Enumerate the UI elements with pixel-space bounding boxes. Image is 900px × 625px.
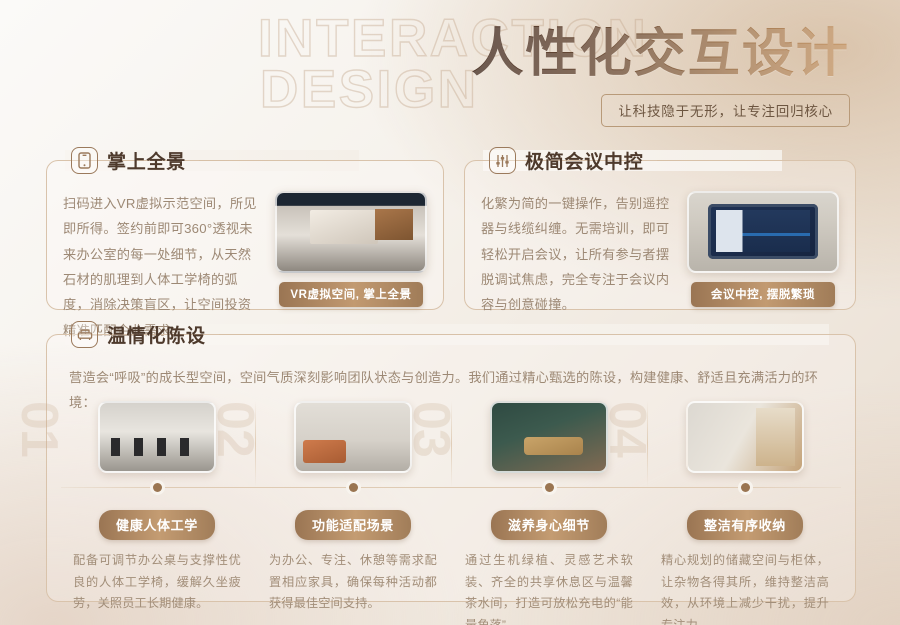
smartphone-icon — [71, 147, 98, 174]
green-art-meeting-room-photo — [490, 401, 608, 473]
card-3-header: 温情化陈设 — [65, 321, 829, 348]
sliders-icon — [489, 147, 516, 174]
poster-stage: INTERACTION DESIGN 人性化交互设计 让科技隐于无形，让专注回归… — [0, 0, 900, 625]
card-1-caption: VR虚拟空间, 掌上全景 — [279, 282, 423, 307]
column-3-number: 03 — [405, 401, 457, 457]
column-4-pill: 整洁有序收纳 — [687, 510, 803, 540]
card-1-body: 扫码进入VR虚拟示范空间，所见即所得。签约前即可360°透视未来办公室的每一处细… — [63, 191, 261, 293]
card-3-header-rule — [219, 334, 819, 335]
furnishing-columns: 01 健康人体工学 配备可调节办公桌与支撑性优良的人体工学椅，缓解久坐疲劳，关照… — [59, 397, 843, 587]
hero-tagline-badge: 让科技隐于无形，让专注回归核心 — [601, 94, 850, 127]
column-2-text: 为办公、专注、休憩等需求配置相应家具，确保每种活动都获得最佳空间支持。 — [269, 550, 437, 615]
card-1-title: 掌上全景 — [107, 147, 186, 174]
open-office-workstations-photo — [98, 401, 216, 473]
column-1-text: 配备可调节办公桌与支撑性优良的人体工学椅，缓解久坐疲劳，关照员工长期健康。 — [73, 550, 241, 615]
column-2-number: 02 — [209, 401, 261, 457]
column-4-text: 精心规划的储藏空间与柜体，让杂物各得其所，维持整洁高效，从环境上减少干扰，提升专… — [661, 550, 829, 625]
lounge-sofa-meeting-photo — [294, 401, 412, 473]
card-2-caption: 会议中控, 摆脱繁琐 — [691, 282, 835, 307]
vr-office-photo — [275, 191, 427, 273]
column-3-dot — [545, 483, 554, 492]
pantry-storage-cabinets-photo — [686, 401, 804, 473]
card-1-header-rule — [199, 160, 349, 161]
column-1-pill: 健康人体工学 — [99, 510, 215, 540]
hero-block: 人性化交互设计 让科技隐于无形，让专注回归核心 — [471, 26, 850, 127]
column-1-dot — [153, 483, 162, 492]
page-title: 人性化交互设计 — [471, 26, 850, 82]
card-warm-furnishings: 温情化陈设 营造会“呼吸”的成长型空间，空间气质深刻影响团队状态与创造力。我们通… — [46, 334, 856, 602]
armchair-icon — [71, 321, 98, 348]
card-1-media: VR虚拟空间, 掌上全景 — [275, 191, 427, 293]
card-1-header: 掌上全景 — [65, 147, 359, 174]
column-3-text: 通过生机绿植、灵感艺术软装、齐全的共享休息区与温馨茶水间，打造可放松充电的“能量… — [465, 550, 633, 625]
column-4-dot — [741, 483, 750, 492]
card-2-header: 极简会议中控 — [483, 147, 782, 174]
card-2-media: 会议中控, 摆脱繁琐 — [687, 191, 839, 293]
column-4-number: 04 — [601, 401, 653, 457]
card-2-title: 极简会议中控 — [525, 147, 644, 174]
card-3-title: 温情化陈设 — [107, 321, 206, 348]
column-2-dot — [349, 483, 358, 492]
column-2-pill: 功能适配场景 — [295, 510, 411, 540]
card-minimal-meeting-control: 极简会议中控 化繁为简的一键操作，告别遥控器与线缆纠缠。无需培训，即可轻松开启会… — [464, 160, 856, 310]
tablet-control-photo — [687, 191, 839, 273]
furnishing-column: 04 整洁有序收纳 精心规划的储藏空间与柜体，让杂物各得其所，维持整洁高效，从环… — [647, 397, 843, 625]
column-3-pill: 滋养身心细节 — [491, 510, 607, 540]
card-2-body: 化繁为简的一键操作，告别遥控器与线缆纠缠。无需培训，即可轻松开启会议，让所有参与… — [481, 191, 673, 293]
card-handheld-panorama: 掌上全景 扫码进入VR虚拟示范空间，所见即所得。签约前即可360°透视未来办公室… — [46, 160, 444, 310]
column-1-number: 01 — [13, 401, 65, 457]
card-2-header-rule — [657, 160, 772, 161]
